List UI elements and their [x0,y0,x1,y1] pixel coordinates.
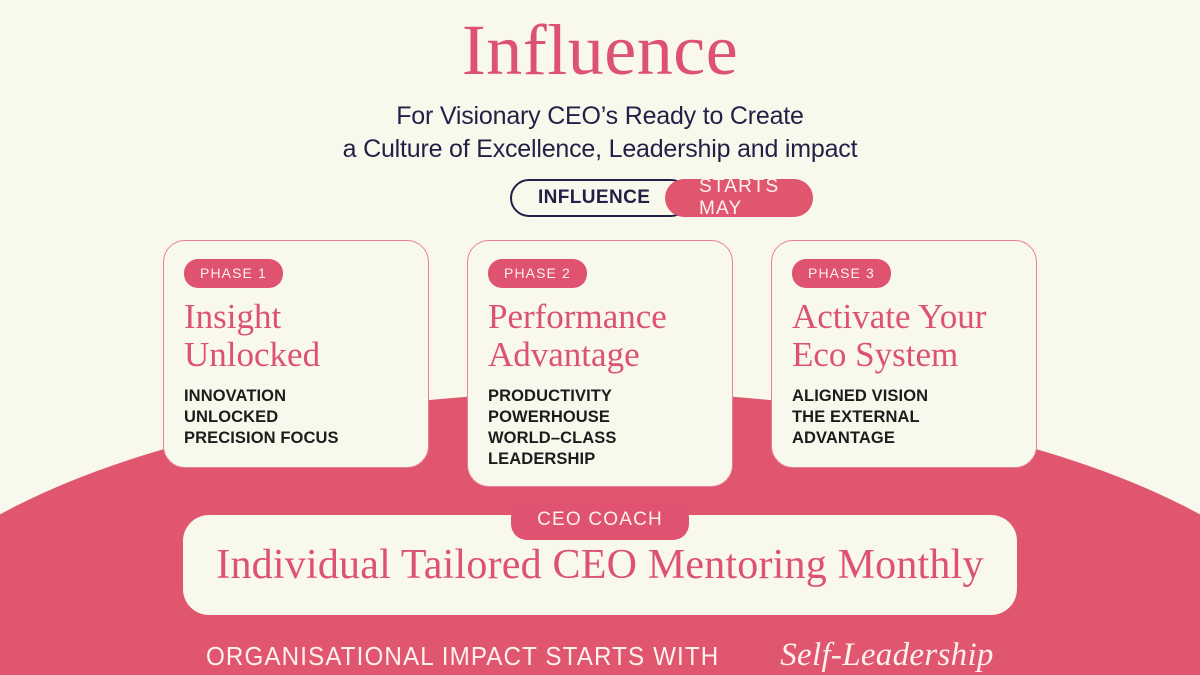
subtitle-line-2: a Culture of Excellence, Leadership and … [0,133,1200,166]
phase-title-1: Insight Unlocked [184,298,410,374]
influence-pill-container: INFLUENCE STARTS MAY [0,179,1200,217]
phase-title-2-line-1: Performance [488,298,714,336]
phase-title-3: Activate Your Eco System [792,298,1018,374]
poster-canvas: Influence For Visionary CEO’s Ready to C… [0,0,1200,675]
influence-pill[interactable]: INFLUENCE STARTS MAY [510,179,690,217]
subtitle: For Visionary CEO’s Ready to Create a Cu… [0,86,1200,166]
phase-title-2: Performance Advantage [488,298,714,374]
phase-card-3[interactable]: PHASE 3 Activate Your Eco System ALIGNED… [771,240,1037,468]
phase-body-3-line-2: THE EXTERNAL [792,407,1018,428]
phase-body-3: ALIGNED VISION THE EXTERNAL ADVANTAGE [792,386,1018,449]
phase-title-1-line-2: Unlocked [184,336,410,374]
phase-body-3-line-3: ADVANTAGE [792,428,1018,449]
phase-badge-3: PHASE 3 [792,259,891,288]
coach-badge-container: CEO COACH [0,502,1200,540]
tagline-script-text: Self-Leadership [780,637,993,674]
phase-body-1-line-3: PRECISION FOCUS [184,428,410,449]
phase-title-3-line-2: Eco System [792,336,1018,374]
phase-cards-row: PHASE 1 Insight Unlocked INNOVATION UNLO… [0,240,1200,487]
phase-body-1-line-2: UNLOCKED [184,407,410,428]
phase-body-2: PRODUCTIVITY POWERHOUSE WORLD–CLASS LEAD… [488,386,714,470]
phase-badge-1: PHASE 1 [184,259,283,288]
phase-body-2-line-4: LEADERSHIP [488,449,714,470]
phase-title-3-line-1: Activate Your [792,298,1018,336]
phase-body-3-line-1: ALIGNED VISION [792,386,1018,407]
pill-right-label: STARTS MAY [699,176,779,220]
poster-header: Influence For Visionary CEO’s Ready to C… [0,0,1200,166]
pill-left-label: INFLUENCE [538,187,650,209]
subtitle-line-1: For Visionary CEO’s Ready to Create [0,100,1200,133]
phase-title-2-line-2: Advantage [488,336,714,374]
phase-body-2-line-2: POWERHOUSE [488,407,714,428]
pill-left-segment[interactable]: INFLUENCE [510,179,690,217]
phase-card-2[interactable]: PHASE 2 Performance Advantage PRODUCTIVI… [467,240,733,487]
phase-body-1: INNOVATION UNLOCKED PRECISION FOCUS [184,386,410,449]
mentoring-headline: Individual Tailored CEO Mentoring Monthl… [216,541,983,589]
phase-card-1[interactable]: PHASE 1 Insight Unlocked INNOVATION UNLO… [163,240,429,468]
footer-tagline: ORGANISATIONAL IMPACT STARTS WITH Self-L… [0,637,1200,674]
phase-body-1-line-1: INNOVATION [184,386,410,407]
phase-badge-2: PHASE 2 [488,259,587,288]
phase-body-2-line-1: PRODUCTIVITY [488,386,714,407]
ceo-coach-badge: CEO COACH [511,502,689,540]
pill-right-segment[interactable]: STARTS MAY [665,179,813,217]
phase-body-2-line-3: WORLD–CLASS [488,428,714,449]
page-title: Influence [0,0,1200,86]
phase-title-1-line-1: Insight [184,298,410,336]
tagline-main-text: ORGANISATIONAL IMPACT STARTS WITH [206,641,719,672]
